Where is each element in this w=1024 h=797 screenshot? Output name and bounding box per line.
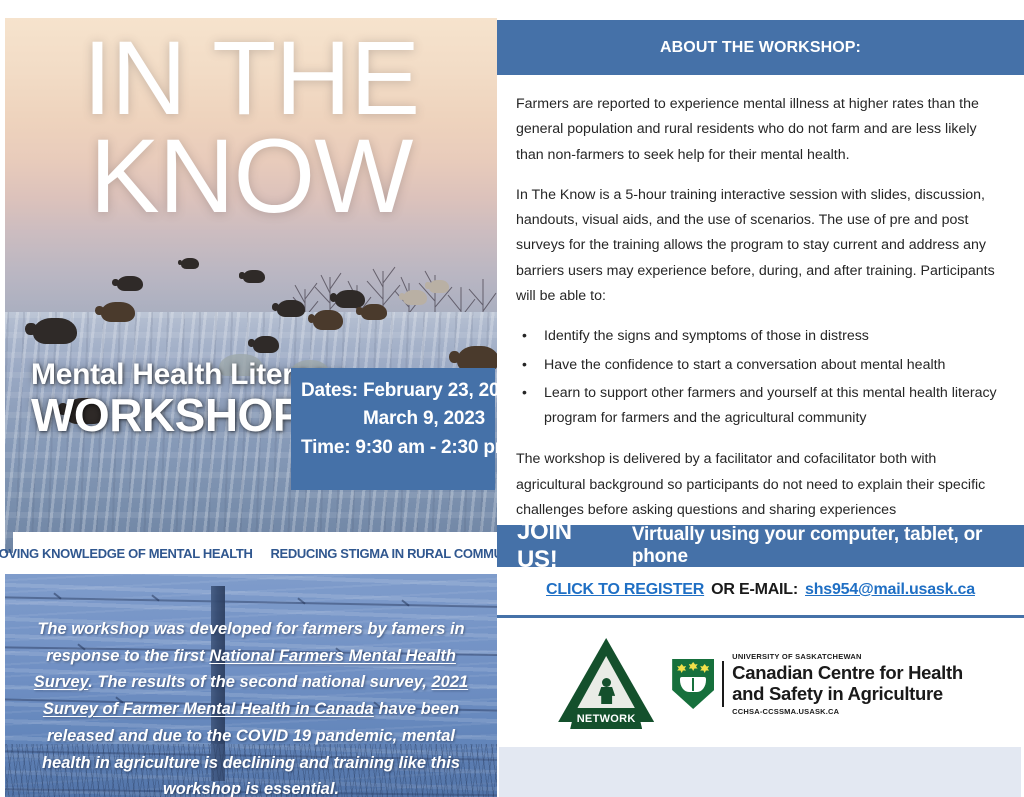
ag-health-safety-network-logo: THE AGRICULTURAL HEALTH & SAFETY NETWORK bbox=[558, 638, 654, 730]
cchsa-url: CCHSA-CCSSMA.USASK.CA bbox=[732, 707, 963, 716]
list-item: Identify the signs and symptoms of those… bbox=[516, 324, 1003, 349]
cow bbox=[101, 302, 135, 322]
open-book-icon bbox=[680, 677, 706, 692]
about-bullet-list: Identify the signs and symptoms of those… bbox=[516, 324, 1003, 431]
cow bbox=[253, 336, 279, 353]
register-row: CLICK TO REGISTER OR E-MAIL: shs954@mail… bbox=[497, 567, 1024, 613]
logo-divider bbox=[722, 661, 724, 707]
bottom-filler-block bbox=[499, 747, 1021, 797]
person-body bbox=[598, 687, 615, 704]
about-paragraph-1: Farmers are reported to experience menta… bbox=[516, 92, 1003, 168]
page-title: IN THE KNOW bbox=[5, 30, 497, 225]
university-name: UNIVERSITY OF SASKATCHEWAN bbox=[732, 652, 963, 661]
svg-text:HEALTH & SAFETY: HEALTH & SAFETY bbox=[615, 665, 643, 712]
poster-canvas: IN THE KNOW Mental Health Literacy WORKS… bbox=[0, 0, 1024, 797]
usask-shield-icon bbox=[672, 659, 714, 709]
headline-line-1: IN THE bbox=[5, 30, 497, 128]
cow bbox=[361, 304, 387, 320]
about-paragraph-3: The workshop is delivered by a facilitat… bbox=[516, 447, 1003, 523]
about-title: ABOUT THE WORKSHOP: bbox=[660, 39, 861, 57]
barbed-wire-fence-photo: The workshop was developed for farmers b… bbox=[5, 574, 497, 797]
join-us-bar: JOIN US! Virtually using your computer, … bbox=[497, 525, 1024, 567]
logo-row: THE AGRICULTURAL HEALTH & SAFETY NETWORK bbox=[497, 625, 1024, 743]
wheat-leaf-icon bbox=[689, 662, 698, 671]
cow bbox=[117, 276, 143, 291]
cow bbox=[313, 310, 343, 330]
about-body: Farmers are reported to experience menta… bbox=[516, 92, 1003, 538]
network-banner: NETWORK bbox=[570, 708, 642, 729]
cow bbox=[403, 290, 427, 305]
tagline-left: IMPROVING KNOWLEDGE OF MENTAL HEALTH bbox=[0, 546, 253, 561]
dates-line-3: Time: 9:30 am - 2:30 pm bbox=[301, 434, 485, 462]
dates-line-1: Dates: February 23, 2023 bbox=[301, 377, 485, 405]
dates-time-box: Dates: February 23, 2023 March 9, 2023 T… bbox=[291, 368, 495, 490]
person-head bbox=[602, 678, 611, 687]
dates-line-2: March 9, 2023 bbox=[301, 405, 485, 433]
cchsa-logo: UNIVERSITY OF SASKATCHEWAN Canadian Cent… bbox=[672, 652, 963, 716]
list-item: Learn to support other farmers and yours… bbox=[516, 381, 1003, 432]
centre-name-line-2: and Safety in Agriculture bbox=[732, 684, 963, 705]
about-header-bar: ABOUT THE WORKSHOP: bbox=[497, 20, 1024, 75]
about-paragraph-2: In The Know is a 5-hour training interac… bbox=[516, 183, 1003, 309]
svg-text:THE AGRICULTURAL: THE AGRICULTURAL bbox=[560, 658, 598, 711]
join-us-label: JOIN US! bbox=[517, 518, 614, 574]
register-email-link[interactable]: shs954@mail.usask.ca bbox=[805, 581, 975, 599]
cow bbox=[429, 280, 449, 293]
workshop-origin-blurb: The workshop was developed for farmers b… bbox=[27, 616, 475, 797]
list-item: Have the confidence to start a conversat… bbox=[516, 353, 1003, 378]
cow bbox=[33, 318, 77, 344]
cow bbox=[277, 300, 305, 317]
click-to-register-link[interactable]: CLICK TO REGISTER bbox=[546, 581, 704, 599]
network-banner-label: NETWORK bbox=[577, 713, 636, 725]
person-icon bbox=[598, 678, 615, 704]
winter-farm-photo: IN THE KNOW Mental Health Literacy WORKS… bbox=[5, 18, 497, 553]
cow bbox=[243, 270, 265, 283]
tagline-strip: IMPROVING KNOWLEDGE OF MENTAL HEALTH RED… bbox=[13, 532, 497, 574]
right-column: ABOUT THE WORKSHOP: Farmers are reported… bbox=[497, 20, 1024, 797]
join-us-text: Virtually using your computer, tablet, o… bbox=[632, 524, 1024, 568]
headline-line-2: KNOW bbox=[5, 128, 497, 226]
blurb-part-2: . The results of the second national sur… bbox=[88, 673, 431, 691]
cow bbox=[335, 290, 365, 308]
centre-name-line-1: Canadian Centre for Health bbox=[732, 663, 963, 684]
register-or-label: OR E-MAIL: bbox=[711, 581, 798, 599]
cow bbox=[181, 258, 199, 269]
centre-name: Canadian Centre for Health and Safety in… bbox=[732, 663, 963, 704]
blue-divider-rule bbox=[497, 615, 1024, 618]
wheat-leaf-icon bbox=[677, 664, 686, 673]
left-column: IN THE KNOW Mental Health Literacy WORKS… bbox=[5, 18, 497, 790]
wheat-leaf-icon bbox=[700, 664, 709, 673]
cchsa-text-block: UNIVERSITY OF SASKATCHEWAN Canadian Cent… bbox=[732, 652, 963, 716]
